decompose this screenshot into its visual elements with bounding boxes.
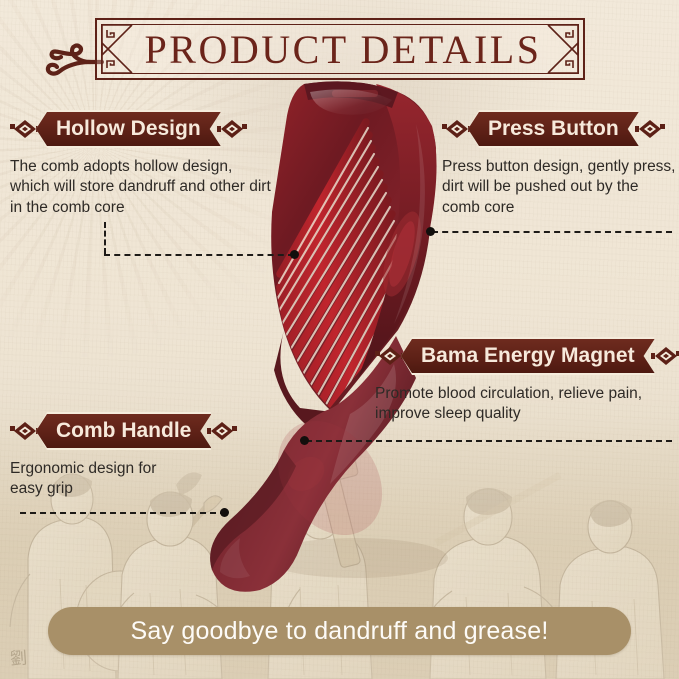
tagline-text: Say goodbye to dandruff and grease!	[131, 617, 549, 646]
feature-hollow-design: Hollow Design The comb adopts hollow des…	[10, 110, 272, 218]
feature-banner: Bama Energy Magnet	[375, 337, 679, 375]
feature-title-press-button: Press Button	[468, 112, 639, 146]
feature-banner: Press Button	[442, 110, 679, 148]
feature-title-comb-handle: Comb Handle	[36, 414, 211, 448]
feature-description-press-button: Press button design, gently press, dirt …	[442, 157, 679, 218]
banner-frame: Hollow Design	[36, 110, 221, 148]
banner-frame: Bama Energy Magnet	[401, 337, 655, 375]
banner-frame: Comb Handle	[36, 412, 211, 450]
feature-comb-handle: Comb Handle Ergonomic design for easy gr…	[10, 412, 237, 500]
feature-banner: Comb Handle	[10, 412, 237, 450]
product-detail-infographic: PRODUCT DETAILS	[0, 0, 679, 679]
feature-banner: Hollow Design	[10, 110, 272, 148]
diamond-ornament-icon	[217, 118, 247, 140]
page-title: PRODUCT DETAILS	[97, 20, 583, 78]
feature-title-bama-energy-magnet: Bama Energy Magnet	[401, 339, 655, 373]
diamond-ornament-icon	[635, 118, 665, 140]
feature-press-button: Press Button Press button design, gently…	[442, 110, 679, 218]
feature-bama-energy-magnet: Bama Energy Magnet Promote blood circula…	[375, 337, 679, 425]
feature-description-hollow-design: The comb adopts hollow design, which wil…	[10, 157, 272, 218]
feature-title-hollow-design: Hollow Design	[36, 112, 221, 146]
artwork-watermark: 劉	[9, 643, 28, 669]
diamond-ornament-icon	[207, 420, 237, 442]
feature-description-comb-handle: Ergonomic design for easy grip	[10, 459, 190, 500]
banner-frame: Press Button	[468, 110, 639, 148]
header: PRODUCT DETAILS	[0, 18, 679, 80]
tagline-banner: Say goodbye to dandruff and grease!	[48, 607, 631, 655]
title-frame: PRODUCT DETAILS	[95, 18, 585, 80]
feature-description-bama-energy-magnet: Promote blood circulation, relieve pain,…	[375, 384, 647, 425]
diamond-ornament-icon	[651, 345, 679, 367]
